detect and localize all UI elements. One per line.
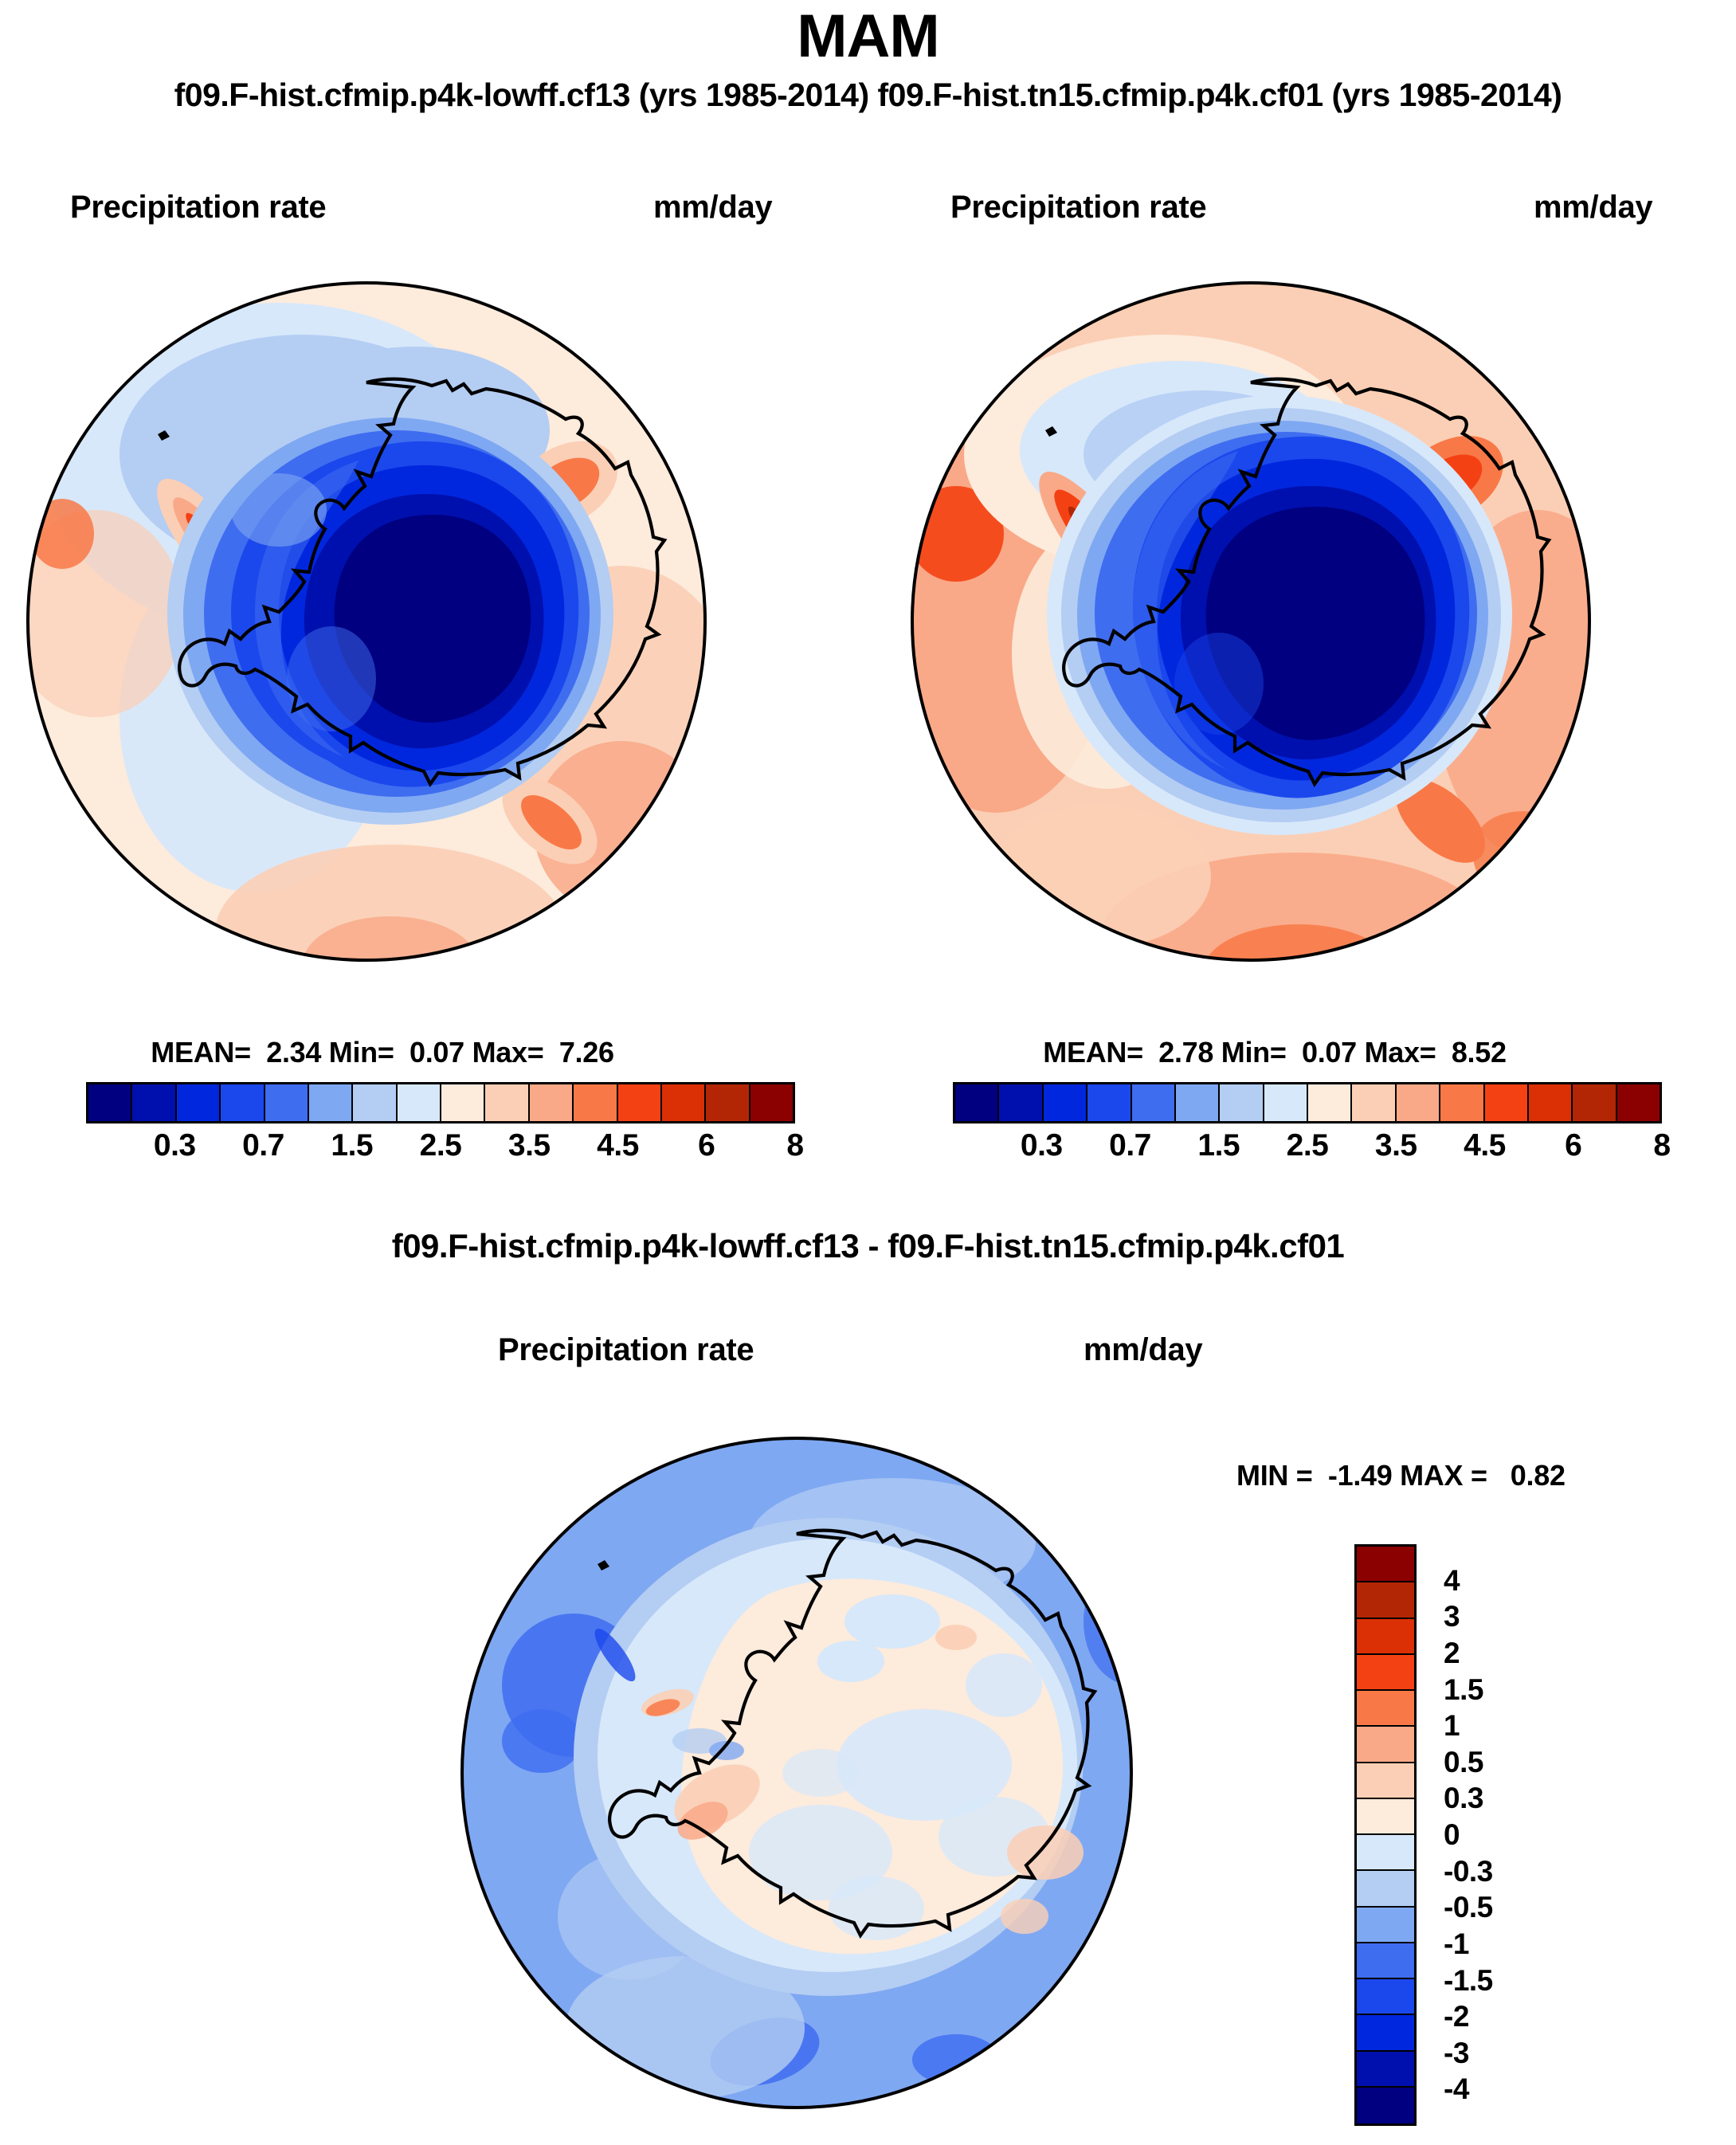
right-colorbar: 0.30.71.52.53.54.568 [953,1082,1662,1167]
colorbar-cell [1352,1084,1396,1121]
left-variable-label: Precipitation rate [70,190,326,225]
colorbar-tick-label: 0 [1444,1818,1460,1852]
colorbar-cell [1220,1084,1264,1121]
colorbar-cell [265,1084,309,1121]
left-colorbar-labels: 0.30.71.52.53.54.568 [86,1123,795,1167]
colorbar-tick-label: 3.5 [508,1128,551,1163]
colorbar-tick-label: 0.7 [242,1128,284,1163]
colorbar-cell [221,1084,265,1121]
colorbar-tick-label: 3.5 [1375,1128,1417,1163]
colorbar-cell [955,1084,999,1121]
colorbar-cell [1440,1084,1484,1121]
colorbar-cell [1044,1084,1087,1121]
colorbar-cell [398,1084,441,1121]
colorbar-tick-label: 8 [786,1128,803,1163]
colorbar-cell [662,1084,706,1121]
colorbar-tick-label: 2.5 [1287,1128,1329,1163]
colorbar-cell [1176,1084,1220,1121]
colorbar-tick-label: 6 [698,1128,715,1163]
colorbar-cell [309,1084,353,1121]
colorbar-cell [1087,1084,1131,1121]
colorbar-cell [618,1084,662,1121]
left-colorbar-strip [86,1082,795,1123]
colorbar-cell [1485,1084,1529,1121]
colorbar-cell [88,1084,132,1121]
colorbar-cell [177,1084,221,1121]
colorbar-tick-label: 4.5 [597,1128,639,1163]
colorbar-tick-label: -1 [1444,1927,1469,1961]
colorbar-tick-label: 2.5 [420,1128,462,1163]
left-colorbar: 0.30.71.52.53.54.568 [86,1082,795,1167]
colorbar-tick-label: 1 [1444,1709,1460,1743]
right-polar-map [900,271,1601,972]
colorbar-cell [1132,1084,1176,1121]
right-stats: MEAN= 2.78 Min= 0.07 Max= 8.52 [996,1036,1554,1069]
colorbar-cell [1573,1084,1616,1121]
left-units-label: mm/day [653,190,772,225]
colorbar-cell [530,1084,574,1121]
right-units-label: mm/day [1534,190,1652,225]
colorbar-cell [1397,1084,1440,1121]
colorbar-tick-label: -1.5 [1444,1964,1493,1998]
colorbar-tick-label: 1.5 [1444,1673,1483,1707]
colorbar-cell [485,1084,529,1121]
colorbar-tick-label: 0.3 [1444,1782,1483,1815]
colorbar-tick-label: -0.3 [1444,1855,1493,1888]
left-stats: MEAN= 2.34 Min= 0.07 Max= 7.26 [104,1036,661,1069]
left-polar-map [16,271,717,972]
colorbar-tick-label: 1.5 [331,1128,373,1163]
page-title: MAM [0,2,1736,71]
colorbar-tick-label: 4.5 [1464,1128,1506,1163]
diff-units-label: mm/day [1084,1332,1202,1368]
page-subtitle: f09.F-hist.cfmip.p4k-lowff.cf13 (yrs 198… [0,76,1736,114]
colorbar-cell [132,1084,176,1121]
colorbar-tick-label: -3 [1444,2037,1469,2070]
difference-colorbar: 4321.510.50.30-0.3-0.5-1-1.5-2-3-4 [1354,1544,1593,2126]
colorbar-cell [353,1084,397,1121]
colorbar-tick-label: 0.3 [1021,1128,1063,1163]
right-colorbar-labels: 0.30.71.52.53.54.568 [953,1123,1662,1167]
colorbar-tick-label: 1.5 [1197,1128,1240,1163]
colorbar-cell [441,1084,485,1121]
right-variable-label: Precipitation rate [950,190,1206,225]
right-colorbar-strip [953,1082,1662,1123]
colorbar-tick-label: 8 [1653,1128,1670,1163]
diff-stats: MIN = -1.49 MAX = 0.82 [1236,1459,1566,1492]
colorbar-cell [1617,1084,1660,1121]
colorbar-cell [706,1084,750,1121]
colorbar-tick-label: 6 [1565,1128,1581,1163]
colorbar-tick-label: 0.5 [1444,1746,1483,1779]
colorbar-cell [1529,1084,1573,1121]
colorbar-tick-label: 3 [1444,1600,1460,1633]
diff-variable-label: Precipitation rate [498,1332,754,1368]
colorbar-cell [574,1084,617,1121]
colorbar-tick-label: 0.7 [1109,1128,1151,1163]
colorbar-cell [750,1084,793,1121]
colorbar-cell [1264,1084,1308,1121]
colorbar-tick-label: 2 [1444,1637,1460,1670]
difference-colorbar-labels: 4321.510.50.30-0.3-0.5-1-1.5-2-3-4 [1354,1544,1593,2126]
colorbar-tick-label: -4 [1444,2072,1469,2106]
difference-title: f09.F-hist.cfmip.p4k-lowff.cf13 - f09.F-… [0,1227,1736,1265]
difference-polar-map [446,1422,1147,2123]
figure-page: MAM f09.F-hist.cfmip.p4k-lowff.cf13 (yrs… [0,0,1736,2145]
colorbar-tick-label: 4 [1444,1564,1460,1598]
colorbar-cell [1308,1084,1352,1121]
colorbar-tick-label: 0.3 [154,1128,196,1163]
colorbar-tick-label: -0.5 [1444,1891,1493,1924]
colorbar-cell [999,1084,1043,1121]
colorbar-tick-label: -2 [1444,2000,1469,2033]
